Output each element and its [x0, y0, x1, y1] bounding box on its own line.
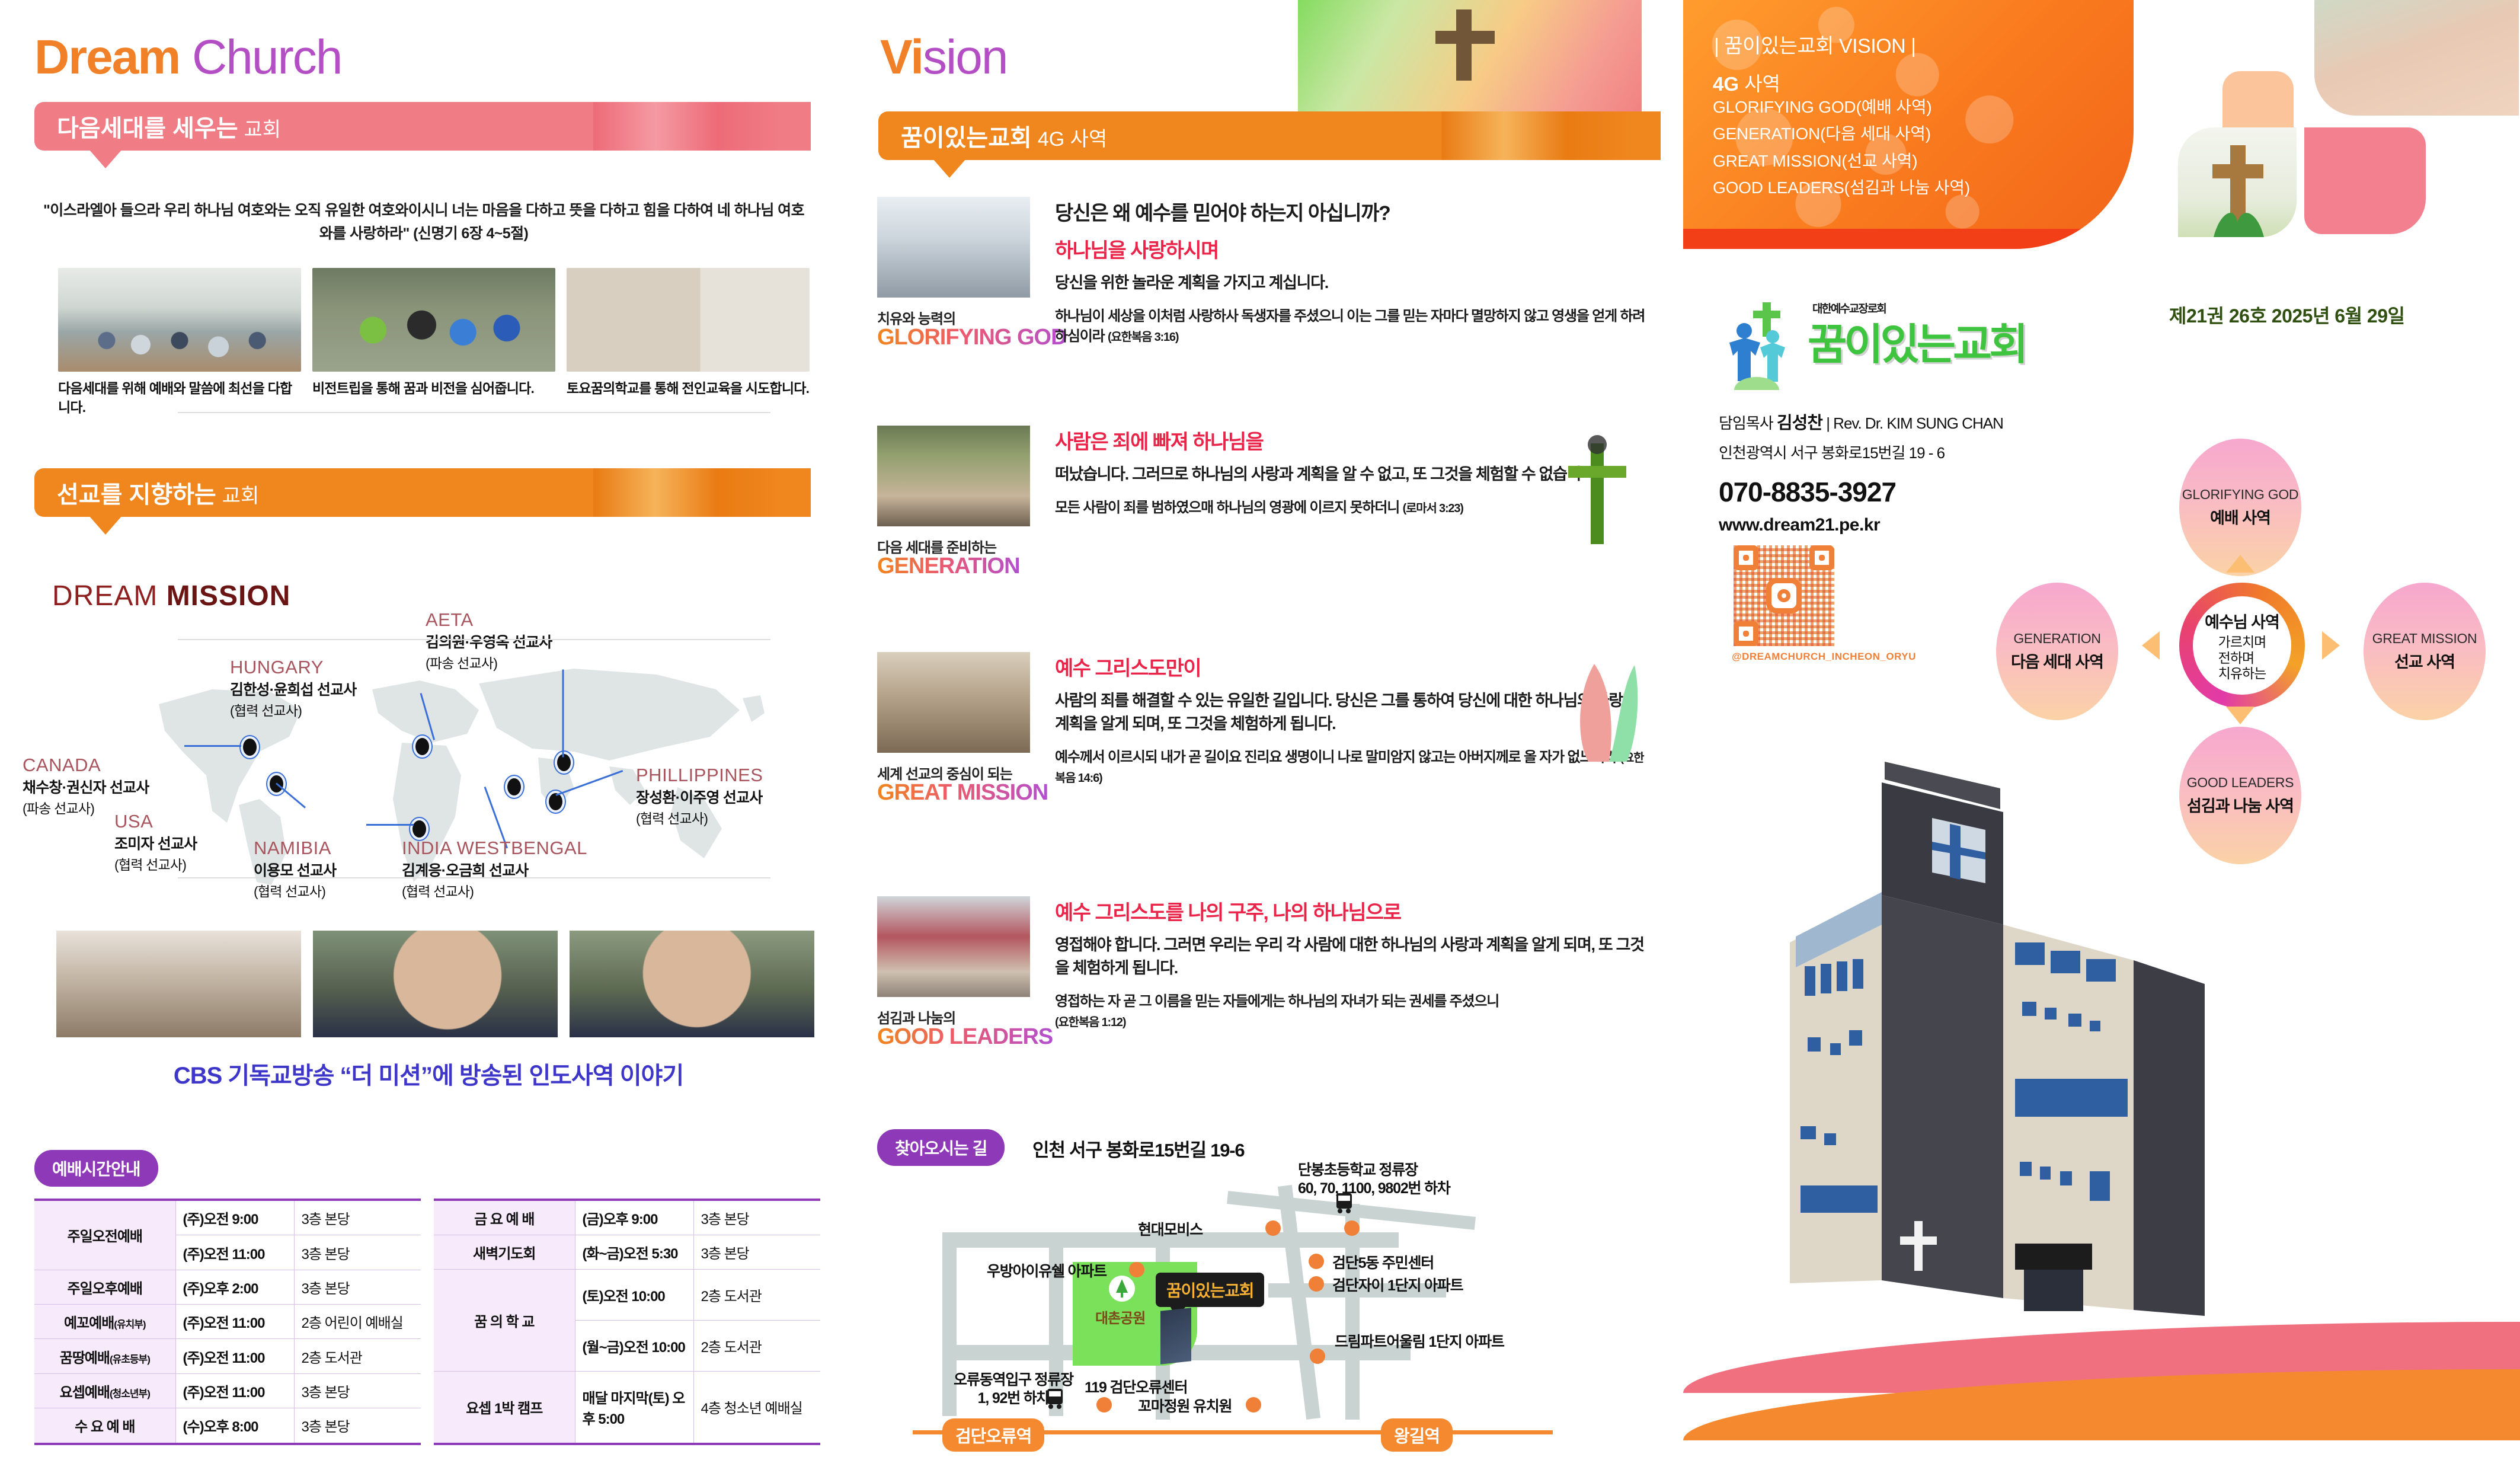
- bus-stop-detail: 60, 70, 1100, 9802번 하차: [1298, 1180, 1450, 1197]
- block-paragraph: 영접해야 합니다. 그러면 우리는 우리 각 사람에 대한 하나님의 사랑과 계…: [1055, 934, 1648, 980]
- vision-panel: | 꿈이있는교회 VISION | 4G 사역 GLORIFYING GOD(예…: [1683, 0, 2134, 249]
- service-place: 3층 본당: [294, 1408, 421, 1444]
- vision-panel-title: | 꿈이있는교회 VISION |: [1714, 30, 1915, 59]
- map-pin-hyundai-mobis: [1265, 1220, 1281, 1236]
- dm-light: DREAM: [52, 580, 167, 612]
- schedule-tables: 주일오전예배 (주)오전 9:00 3층 본당 (주)오전 11:00 3층 본…: [34, 1199, 823, 1445]
- arrow-down-icon: [2226, 707, 2254, 724]
- block-body: 예수 그리스도를 나의 구주, 나의 하나님으로 영접해야 합니다. 그러면 우…: [1055, 896, 1648, 1031]
- mission-sub: (협력 선교사): [114, 854, 197, 874]
- photo-caption: 다음세대를 위해 예배와 말씀에 최선을 다합니다.: [58, 379, 301, 417]
- photo-saturday-dream-school: [567, 268, 810, 372]
- pin-leader-canada: [184, 745, 241, 747]
- diagram-orb-generation: GENERATION 다음 세대 사역: [1996, 583, 2118, 720]
- block-en-caption: GREAT MISSION: [877, 780, 1048, 806]
- mission-label-usa: USA 조미자 선교사 (협력 선교사): [114, 811, 197, 874]
- service-time: (금)오후 9:00: [575, 1200, 693, 1235]
- church-logo: 대한예수교장로회 꿈이있는교회: [1719, 296, 2027, 397]
- church-address: 인천광역시 서구 봉화로15번길 19 - 6: [1719, 441, 2003, 463]
- tree-icon: [1108, 1275, 1136, 1302]
- mission-label-canada: CANADA 채수창·권신자 선교사 (파송 선교사): [23, 755, 149, 817]
- next-generation-photo-group: 다음세대를 위해 예배와 말씀에 최선을 다합니다. 비전트립을 통해 꿈과 비…: [58, 268, 811, 417]
- service-place: 3층 본당: [294, 1235, 421, 1270]
- block-verse: 하나님이 세상을 이처럼 사랑하사 독생자를 주셨으니 이는 그를 믿는 자마다…: [1055, 306, 1648, 346]
- block-heading: 하나님을 사랑하시며: [1055, 234, 1648, 263]
- mission-label-hungary: HUNGARY 김한성·윤희섭 선교사 (협력 선교사): [230, 657, 356, 720]
- mission-label-phillippines: PHILLIPPINES 장성환·이주영 선교사 (협력 선교사): [636, 765, 763, 827]
- pin-leader-namibia: [366, 824, 414, 826]
- service-place: 3층 본당: [294, 1200, 421, 1235]
- scripture-quote: "이스라엘아 들으라 우리 하나님 여호와는 오직 유일한 여호와이시니 너는 …: [41, 199, 806, 245]
- park-label: 대촌공원: [1095, 1306, 1145, 1327]
- service-place: 2층 도서관: [294, 1339, 421, 1373]
- left-column: Dream Church 다음세대를 세우는교회 "이스라엘아 들으라 우리 하…: [0, 0, 842, 1470]
- photo-fellowship-meal: [877, 896, 1030, 997]
- mission-label-india-westbengal: INDIA WESTBENGAL 김계응·오금희 선교사 (협력 선교사): [402, 838, 587, 900]
- ribbon-tail: [89, 149, 122, 168]
- vision-item: GOOD LEADERS(섬김과 나눔 사역): [1713, 174, 1970, 201]
- mission-sub: (협력 선교사): [254, 880, 336, 900]
- landmark-label-kindergarten: 꼬마정원 유치원: [1138, 1395, 1232, 1416]
- brand-dream: Dream: [34, 30, 180, 84]
- map-pin-dreampart-apt: [1310, 1348, 1325, 1364]
- church-building-illustration: [1754, 747, 2359, 1399]
- landmark-label-geomdan5-center: 검단5동 주민센터: [1332, 1251, 1434, 1273]
- vision-item: GREAT MISSION(선교 사역): [1713, 148, 1970, 174]
- mission-sub: (협력 선교사): [402, 880, 587, 900]
- arrow-right-icon: [2322, 631, 2340, 660]
- service-name-sub: (유초등부): [110, 1354, 150, 1365]
- orb-kr-label: 예배 사역: [2210, 505, 2270, 528]
- photo-classroom-worship: [58, 268, 301, 372]
- landmark-label-geomdan-xi-apt: 검단자이 1단지 아파트: [1332, 1274, 1463, 1295]
- diagram-center-jesus-ministry: 예수님 사역 가르치며전하며치유하는: [2179, 583, 2305, 708]
- map-pin-canada: [243, 739, 257, 756]
- orb-kr-label: 다음 세대 사역: [2011, 649, 2103, 672]
- mission-names: 채수창·권신자 선교사: [23, 776, 149, 797]
- service-name-sub: (청소년부): [110, 1388, 150, 1399]
- block-question: 당신은 왜 예수를 믿어야 하는지 아십니까?: [1055, 197, 1648, 226]
- service-time: 매달 마지막(토) 오후 5:00: [575, 1372, 693, 1444]
- verse-text: 모든 사람이 죄를 범하였으매 하나님의 영광에 이르지 못하더니: [1055, 500, 1399, 516]
- cbs-broadcast-photo-group: [56, 931, 815, 1037]
- vision-sion: sion: [923, 30, 1007, 84]
- service-schedule-section: 예배시간안내 주일오전예배 (주)오전 9:00 3층 본당 (주)오전 11:…: [34, 1150, 823, 1445]
- landmark-label-119-center: 119 검단오류센터: [1085, 1376, 1187, 1397]
- pastor-label: 담임목사: [1719, 414, 1773, 432]
- bus-stop-south-label: 오류동역입구 정류장 1, 92번 하차: [936, 1371, 1090, 1408]
- instagram-handle: @DREAMCHURCH_INCHEON_ORYU: [1732, 651, 1916, 663]
- vision-item-list: GLORIFYING GOD(예배 사역) GENERATION(다음 세대 사…: [1713, 94, 1970, 201]
- qr-eye-bottomleft: [1734, 621, 1758, 646]
- ribbon1-bold: 다음세대를 세우는: [57, 116, 238, 142]
- verse-reference: (로마서 3:23): [1403, 502, 1463, 515]
- verse-reference: (요한복음 1:12): [1055, 1016, 1125, 1029]
- directions-pill-label: 찾아오시는 길: [877, 1129, 1005, 1166]
- ribbon-text: 다음세대를 세우는교회: [34, 109, 281, 143]
- orb-en-label: GENERATION: [2013, 631, 2100, 647]
- map-pin-india: [507, 778, 521, 795]
- page-title: Dream Church: [34, 30, 341, 85]
- service-name: 금 요 예 배: [434, 1200, 575, 1235]
- road-vertical-diagonal: [1278, 1185, 1320, 1420]
- pastor-name-en: | Rev. Dr. KIM SUNG CHAN: [1826, 414, 2003, 432]
- service-place: 2층 도서관: [693, 1270, 820, 1321]
- block-body: 당신은 왜 예수를 믿어야 하는지 아십니까? 하나님을 사랑하시며 당신을 위…: [1055, 197, 1648, 346]
- table-row: 꿈 의 학 교 (토)오전 10:00 2층 도서관: [434, 1270, 820, 1321]
- mission-sub: (협력 선교사): [636, 807, 763, 827]
- logo-figures-icon: [1723, 301, 1806, 390]
- logo-church-name: 꿈이있는교회: [1808, 309, 2025, 372]
- service-place: 3층 본당: [294, 1270, 421, 1304]
- service-name-main: 꿈땅예배: [60, 1350, 110, 1366]
- block-en-caption: GENERATION: [877, 554, 1020, 579]
- mid-ribbon-light: 4G 사역: [1038, 128, 1107, 151]
- photo-mission-field-worship: [877, 652, 1030, 753]
- service-time: (토)오전 10:00: [575, 1270, 693, 1321]
- table-row: 주일오후예배 (주)오후 2:00 3층 본당: [34, 1270, 421, 1304]
- dream-mission-map: DREAM MISSION: [34, 597, 823, 894]
- map-pin-namibia: [412, 820, 426, 838]
- service-place: 4층 청소년 예배실: [693, 1372, 820, 1444]
- photo-caption: 비전트립을 통해 꿈과 비전을 심어줍니다.: [312, 379, 555, 398]
- brand-church: Church: [180, 30, 341, 84]
- service-name: 주일오전예배: [34, 1200, 175, 1270]
- schedule-table-right: 금 요 예 배 (금)오후 9:00 3층 본당 새벽기도회 (화~금)오전 5…: [434, 1199, 820, 1445]
- bus-stop-detail: 1, 92번 하차: [978, 1390, 1050, 1407]
- vision-item: GLORIFYING GOD(예배 사역): [1713, 94, 1970, 120]
- bus-icon: [1044, 1386, 1066, 1410]
- bus-icon: [1333, 1191, 1355, 1215]
- mission-label-aeta: AETA 김의원·우영옥 선교사 (파송 선교사): [426, 609, 552, 672]
- road-vertical-right: [1345, 1204, 1360, 1420]
- directions-address: 인천 서구 봉화로15번길 19-6: [1032, 1135, 1244, 1162]
- landmark-label-woobang-apt: 우방아이유쉘 아파트: [987, 1260, 1107, 1281]
- ribbon2-light: 교회: [222, 485, 260, 507]
- instagram-qr-code[interactable]: [1734, 545, 1834, 646]
- photo-tile: 다음세대를 위해 예배와 말씀에 최선을 다합니다.: [58, 268, 301, 417]
- mission-country: PHILLIPPINES: [636, 765, 763, 786]
- bus-stop-name: 오류동역입구 정류장: [954, 1372, 1073, 1388]
- verse-text: 영접하는 자 곧 그 이름을 믿는 자들에게는 하나님의 자녀가 되는 권세를 …: [1055, 993, 1499, 1009]
- mission-country: NAMIBIA: [254, 838, 336, 859]
- block-divider: [178, 877, 770, 878]
- section-header-4g-ministry: 꿈이있는교회4G 사역: [878, 111, 1661, 160]
- mission-label-namibia: NAMIBIA 이용모 선교사 (협력 선교사): [254, 838, 336, 900]
- service-time: (화~금)오전 5:30: [575, 1235, 693, 1270]
- decor-photo-praying-hands: [2314, 0, 2519, 116]
- section-header-mission: 선교를 지향하는교회: [34, 468, 811, 517]
- center-lines: 가르치며전하며치유하는: [2218, 634, 2266, 681]
- schedule-table-left: 주일오전예배 (주)오전 9:00 3층 본당 (주)오전 11:00 3층 본…: [34, 1199, 421, 1445]
- ribbon2-bold: 선교를 지향하는: [57, 482, 216, 508]
- photo-vision-trip-group: [312, 268, 555, 372]
- photo-worship-service: [877, 197, 1030, 298]
- map-pin-woobang-apt: [1129, 1262, 1144, 1277]
- vision-4g-bold: 4G: [1713, 73, 1739, 95]
- service-name-sub: (유치부): [114, 1319, 145, 1330]
- block-divider: [178, 412, 770, 413]
- church-building-marker: [1160, 1308, 1191, 1364]
- verse-text: 예수께서 이르시되 내가 곧 길이요 진리요 생명이니 나로 말미암지 않고는 …: [1055, 749, 1617, 765]
- vision-item: GENERATION(다음 세대 사역): [1713, 120, 1970, 147]
- verse-reference: (요한복음 3:16): [1108, 331, 1178, 344]
- vision-panel-accent-bar: [1683, 229, 2134, 249]
- qr-eye-topright: [1809, 545, 1834, 570]
- ribbon-tail: [89, 516, 122, 535]
- map-pin-geomdan5-center: [1309, 1254, 1324, 1269]
- arrow-up-icon: [2226, 555, 2254, 573]
- bus-stop-name: 단봉초등학교 정류장: [1298, 1162, 1418, 1178]
- service-place: 3층 본당: [294, 1373, 421, 1408]
- mission-country: CANADA: [23, 755, 149, 776]
- service-name: 주일오후예배: [34, 1270, 175, 1304]
- photo-tile: 비전트립을 통해 꿈과 비전을 심어줍니다.: [312, 268, 555, 417]
- orb-en-label: GREAT MISSION: [2372, 631, 2477, 647]
- mission-country: INDIA WESTBENGAL: [402, 838, 587, 859]
- vision-panel-subtitle: 4G 사역: [1713, 68, 1780, 97]
- service-name: 꿈 의 학 교: [434, 1270, 575, 1372]
- mission-country: USA: [114, 811, 197, 832]
- table-row: 요셉 1박 캠프 매달 마지막(토) 오후 5:00 4층 청소년 예배실: [434, 1372, 820, 1444]
- church-contact-info: 담임목사 김성찬 | Rev. Dr. KIM SUNG CHAN 인천광역시 …: [1719, 409, 2003, 535]
- arrow-left-icon: [2142, 631, 2160, 660]
- station-geomdan-oryu: 검단오류역: [942, 1418, 1044, 1452]
- section-header-next-generation: 다음세대를 세우는교회: [34, 102, 811, 151]
- table-row: 요셉예배(청소년부) (주)오전 11:00 3층 본당: [34, 1373, 421, 1408]
- mission-names: 김한성·윤희섭 선교사: [230, 678, 356, 699]
- service-place: 2층 어린이 예배실: [294, 1305, 421, 1339]
- vision-vi: Vi: [880, 30, 923, 84]
- service-place: 2층 도서관: [693, 1321, 820, 1372]
- service-name: 예꼬예배(유치부): [34, 1305, 175, 1339]
- photo-caption: 토요꿈의학교를 통해 전인교육을 시도합니다.: [567, 379, 810, 398]
- pastor-name: 김성찬: [1777, 414, 1822, 433]
- service-time: (주)오후 2:00: [175, 1270, 294, 1304]
- service-time: (월~금)오전 10:00: [575, 1321, 693, 1372]
- issue-line: 제21권 26호 2025년 6월 29일: [2169, 301, 2404, 328]
- service-time: (주)오전 11:00: [175, 1235, 294, 1270]
- table-row: 꿈땅예배(유초등부) (주)오전 11:00 2층 도서관: [34, 1339, 421, 1373]
- service-name: 요셉예배(청소년부): [34, 1373, 175, 1408]
- block-verse: 영접하는 자 곧 그 이름을 믿는 자들에게는 하나님의 자녀가 되는 권세를 …: [1055, 992, 1648, 1031]
- table-row: 금 요 예 배 (금)오후 9:00 3층 본당: [434, 1200, 820, 1235]
- decor-photo-wooden-cross: [2178, 127, 2297, 237]
- church-website[interactable]: www.dream21.pe.kr: [1719, 515, 2003, 535]
- diagram-center-inner: 예수님 사역 가르치며전하며치유하는: [2193, 596, 2291, 695]
- service-name-main: 요셉예배: [60, 1385, 110, 1401]
- dm-bold: MISSION: [167, 580, 291, 612]
- mission-sub: (협력 선교사): [230, 699, 356, 720]
- mission-sub: (파송 선교사): [426, 652, 552, 672]
- block-en-caption: GOOD LEADERS: [877, 1024, 1053, 1050]
- ribbon-tail: [933, 159, 966, 178]
- service-time: (주)오전 11:00: [175, 1339, 294, 1373]
- landmark-label-dreampart-apt: 드림파트어울림 1단지 아파트: [1335, 1333, 1512, 1351]
- photo-cbs-studio-interview: [56, 931, 301, 1037]
- pastor-line: 담임목사 김성찬 | Rev. Dr. KIM SUNG CHAN: [1719, 409, 2003, 434]
- service-place: 3층 본당: [693, 1235, 820, 1270]
- directions-section: 찾아오시는 길 인천 서구 봉화로15번길 19-6 대촌공원 꿈이있는교회: [877, 1129, 1677, 1461]
- photo-children-gathering: [877, 426, 1030, 526]
- decor-tile-pink: [2304, 127, 2426, 234]
- ribbon1-light: 교회: [244, 119, 282, 141]
- ribbon-text: 선교를 지향하는교회: [34, 475, 259, 510]
- center-title: 예수님 사역: [2205, 609, 2279, 632]
- location-map: 대촌공원 꿈이있는교회 현대모비스 단봉초등학교 정류장 60, 70, 110…: [877, 1167, 1642, 1452]
- cbs-broadcast-caption: CBS 기독교방송 “더 미션”에 방송된 인도사역 이야기: [34, 1056, 823, 1091]
- dream-mission-heading: DREAM MISSION: [52, 580, 290, 612]
- vision-4g-rest: 사역: [1739, 73, 1780, 95]
- church-phone[interactable]: 070-8835-3927: [1719, 476, 2003, 508]
- mission-country: AETA: [426, 609, 552, 631]
- orb-en-label: GLORIFYING GOD: [2182, 487, 2298, 503]
- block-heading: 예수 그리스도를 나의 구주, 나의 하나님으로: [1055, 896, 1648, 925]
- vision-title: Vision: [880, 30, 1007, 85]
- landmark-label-hyundai-mobis: 현대모비스: [1138, 1218, 1203, 1239]
- block-paragraph: 당신을 위한 놀라운 계획을 가지고 계십니다.: [1055, 271, 1648, 295]
- praying-hands-icon: [1553, 652, 1648, 771]
- photo-cbs-interviewee-2: [570, 931, 814, 1037]
- photo-church-building: [1754, 747, 2359, 1399]
- qr-eye-topleft: [1734, 545, 1758, 570]
- map-pin-bus-stop-north: [1344, 1220, 1360, 1236]
- service-place: 3층 본당: [693, 1200, 820, 1235]
- table-row: 수 요 예 배 (수)오후 8:00 3층 본당: [34, 1408, 421, 1444]
- bus-stop-north-label: 단봉초등학교 정류장 60, 70, 1100, 9802번 하차: [1298, 1161, 1488, 1199]
- station-wanggil: 왕길역: [1381, 1418, 1453, 1452]
- orb-kr-label: 선교 사역: [2394, 649, 2455, 672]
- service-time: (주)오전 11:00: [175, 1305, 294, 1339]
- mission-names: 조미자 선교사: [114, 832, 197, 854]
- mission-names: 김의원·우영옥 선교사: [426, 631, 552, 652]
- map-pin-geomdan-xi-apt: [1309, 1276, 1324, 1292]
- map-pin-aeta: [557, 754, 571, 771]
- ribbon-text: 꿈이있는교회4G 사역: [878, 119, 1107, 153]
- wooden-cross-icon: [2178, 127, 2297, 237]
- service-name: 꿈땅예배(유초등부): [34, 1339, 175, 1373]
- service-name: 요셉 1박 캠프: [434, 1372, 575, 1444]
- mission-country: HUNGARY: [230, 657, 356, 678]
- table-row: 예꼬예배(유치부) (주)오전 11:00 2층 어린이 예배실: [34, 1305, 421, 1339]
- pin-leader-aeta: [562, 670, 564, 758]
- photo-tile: 토요꿈의학교를 통해 전인교육을 시도합니다.: [567, 268, 810, 417]
- table-row: 주일오전예배 (주)오전 9:00 3층 본당: [34, 1200, 421, 1235]
- diagram-orb-great-mission: GREAT MISSION 선교 사역: [2364, 583, 2486, 720]
- church-marker-tag: 꿈이있는교회: [1156, 1273, 1264, 1307]
- map-pin-119-center: [1096, 1397, 1112, 1413]
- map-pin-hungary: [415, 738, 429, 755]
- service-time: (주)오전 9:00: [175, 1200, 294, 1235]
- map-pin-kindergarten: [1246, 1397, 1261, 1413]
- schedule-pill-label: 예배시간안내: [34, 1150, 158, 1187]
- instagram-icon: [1766, 578, 1802, 613]
- block-divider: [178, 639, 770, 640]
- mission-names: 장성환·이주영 선교사: [636, 786, 763, 807]
- service-name: 수 요 예 배: [34, 1408, 175, 1444]
- green-cross-icon: [1553, 432, 1642, 550]
- block-en-caption: GLORIFYING GOD: [877, 325, 1067, 350]
- table-row: 새벽기도회 (화~금)오전 5:30 3층 본당: [434, 1235, 820, 1270]
- service-name: 새벽기도회: [434, 1235, 575, 1270]
- service-time: (수)오후 8:00: [175, 1408, 294, 1444]
- photo-cbs-interviewee-1: [313, 931, 558, 1037]
- bulletin-page: Dream Church 다음세대를 세우는교회 "이스라엘아 들으라 우리 하…: [0, 0, 2520, 1470]
- service-time: (주)오전 11:00: [175, 1373, 294, 1408]
- service-name-main: 예꼬예배: [64, 1315, 114, 1331]
- mid-ribbon-bold: 꿈이있는교회: [901, 125, 1032, 151]
